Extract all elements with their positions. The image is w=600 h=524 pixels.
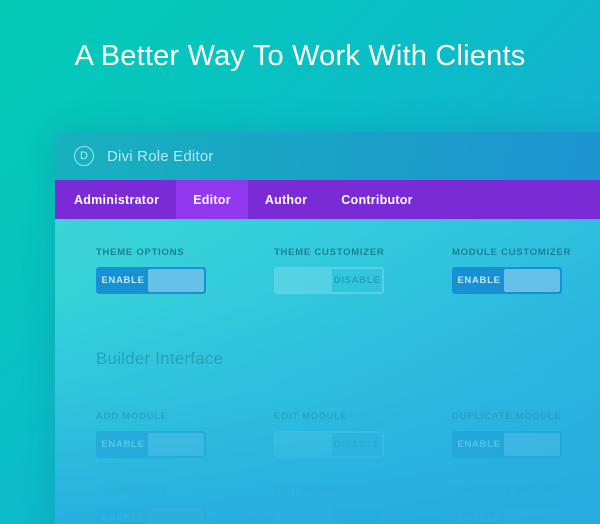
toggle-duplicate-module-1[interactable]: ENABLE xyxy=(452,431,562,458)
toggle-theme-customizer-state: DISABLE xyxy=(332,269,382,292)
toggle-add-module-1-state: ENABLE xyxy=(98,433,148,456)
role-tab-bar: Administrator Editor Author Contributor xyxy=(55,180,600,219)
option-row-theme: THEME OPTIONS ENABLE THEME CUSTOMIZER DI… xyxy=(55,247,600,294)
toggle-module-customizer-state: ENABLE xyxy=(454,269,504,292)
toggle-add-module-2-knob[interactable] xyxy=(148,507,204,524)
option-label-add-module-1: ADD MODULE xyxy=(96,411,233,422)
option-label-edit-module-1: EDIT MODULE xyxy=(274,411,411,422)
option-group-theme-customizer: THEME CUSTOMIZER DISABLE xyxy=(233,247,411,294)
toggle-theme-customizer[interactable]: DISABLE xyxy=(274,267,384,294)
toggle-edit-module-1-state: DISABLE xyxy=(332,433,382,456)
option-label-add-module-2: ADD MODULE xyxy=(96,485,233,496)
option-label-duplicate-module-2: DUPLICATE MODULE xyxy=(452,485,589,496)
page-headline: A Better Way To Work With Clients xyxy=(0,40,600,73)
toggle-duplicate-module-2-knob[interactable] xyxy=(504,507,560,524)
option-row-builder-1: ADD MODULE ENABLE EDIT MODULE DISABLE DU… xyxy=(55,411,600,458)
tab-administrator[interactable]: Administrator xyxy=(55,180,176,219)
toggle-theme-options-knob[interactable] xyxy=(148,269,204,292)
option-label-theme-customizer: THEME CUSTOMIZER xyxy=(274,247,411,258)
option-label-theme-options: THEME OPTIONS xyxy=(96,247,233,258)
toggle-module-customizer-knob[interactable] xyxy=(504,269,560,292)
toggle-duplicate-module-1-state: ENABLE xyxy=(454,433,504,456)
toggle-duplicate-module-2[interactable]: ENABLE xyxy=(452,505,562,524)
card-body: THEME OPTIONS ENABLE THEME CUSTOMIZER DI… xyxy=(55,219,600,524)
tab-administrator-label: Administrator xyxy=(74,193,159,207)
card-title: Divi Role Editor xyxy=(107,148,214,165)
tab-contributor-label: Contributor xyxy=(341,193,412,207)
toggle-edit-module-1[interactable]: DISABLE xyxy=(274,431,384,458)
toggle-edit-module-2-knob[interactable] xyxy=(276,507,332,524)
card-header: D Divi Role Editor xyxy=(55,132,600,180)
tab-contributor[interactable]: Contributor xyxy=(324,180,429,219)
page-background: A Better Way To Work With Clients D Divi… xyxy=(0,0,600,524)
option-group-module-customizer: MODULE CUSTOMIZER ENABLE xyxy=(411,247,589,294)
toggle-theme-options-state: ENABLE xyxy=(98,269,148,292)
option-group-theme-options: THEME OPTIONS ENABLE xyxy=(55,247,233,294)
option-group-add-module-2: ADD MODULE ENABLE xyxy=(55,485,233,524)
option-group-duplicate-module-2: DUPLICATE MODULE ENABLE xyxy=(411,485,589,524)
tab-editor[interactable]: Editor xyxy=(176,180,248,219)
option-group-edit-module-2: EDIT MODULE DISABLE xyxy=(233,485,411,524)
section-heading-builder-interface: Builder Interface xyxy=(96,349,223,369)
tab-author[interactable]: Author xyxy=(248,180,324,219)
divi-logo-letter: D xyxy=(80,151,88,162)
toggle-add-module-2[interactable]: ENABLE xyxy=(96,505,206,524)
toggle-duplicate-module-1-knob[interactable] xyxy=(504,433,560,456)
toggle-theme-customizer-knob[interactable] xyxy=(276,269,332,292)
toggle-edit-module-1-knob[interactable] xyxy=(276,433,332,456)
toggle-add-module-2-state: ENABLE xyxy=(98,507,148,524)
option-label-duplicate-module-1: DUPLICATE MODULE xyxy=(452,411,589,422)
toggle-add-module-1-knob[interactable] xyxy=(148,433,204,456)
option-label-edit-module-2: EDIT MODULE xyxy=(274,485,411,496)
toggle-edit-module-2-state: DISABLE xyxy=(332,507,382,524)
option-group-edit-module-1: EDIT MODULE DISABLE xyxy=(233,411,411,458)
option-label-module-customizer: MODULE CUSTOMIZER xyxy=(452,247,589,258)
toggle-theme-options[interactable]: ENABLE xyxy=(96,267,206,294)
option-group-duplicate-module-1: DUPLICATE MODULE ENABLE xyxy=(411,411,589,458)
toggle-duplicate-module-2-state: ENABLE xyxy=(454,507,504,524)
divi-role-editor-card: D Divi Role Editor Administrator Editor … xyxy=(55,132,600,524)
divi-logo-icon: D xyxy=(74,146,94,166)
toggle-edit-module-2[interactable]: DISABLE xyxy=(274,505,384,524)
toggle-add-module-1[interactable]: ENABLE xyxy=(96,431,206,458)
tab-author-label: Author xyxy=(265,193,307,207)
toggle-module-customizer[interactable]: ENABLE xyxy=(452,267,562,294)
option-group-add-module-1: ADD MODULE ENABLE xyxy=(55,411,233,458)
tab-editor-label: Editor xyxy=(193,193,231,207)
option-row-builder-2: ADD MODULE ENABLE EDIT MODULE DISABLE DU… xyxy=(55,485,600,524)
